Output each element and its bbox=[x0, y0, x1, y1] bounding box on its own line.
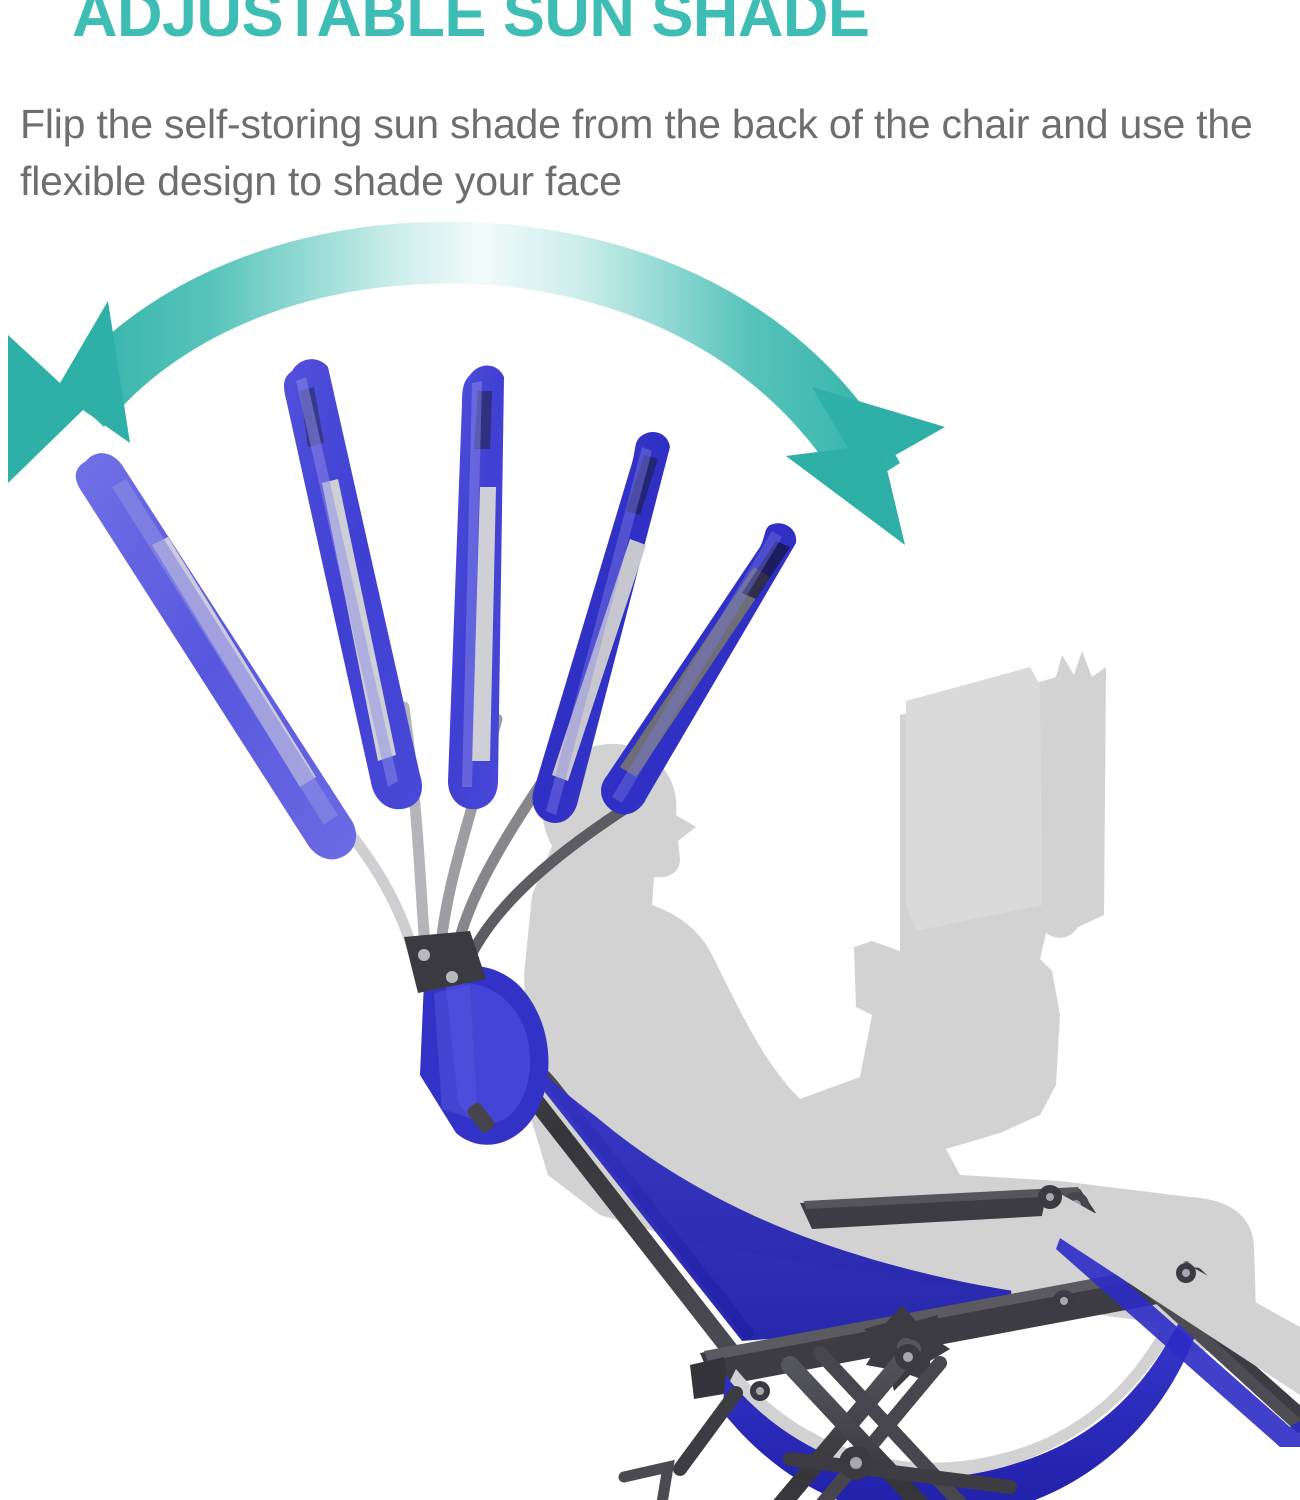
page-title: ADJUSTABLE SUN SHADE bbox=[72, 0, 869, 47]
page-subtitle: Flip the self-storing sun shade from the… bbox=[20, 96, 1280, 209]
product-illustration bbox=[0, 215, 1300, 1500]
shade-position-2 bbox=[284, 359, 422, 809]
product-feature-card: ADJUSTABLE SUN SHADE Flip the self-stori… bbox=[0, 0, 1300, 1500]
shade-position-3 bbox=[448, 365, 504, 809]
book-silhouette bbox=[906, 667, 1042, 931]
